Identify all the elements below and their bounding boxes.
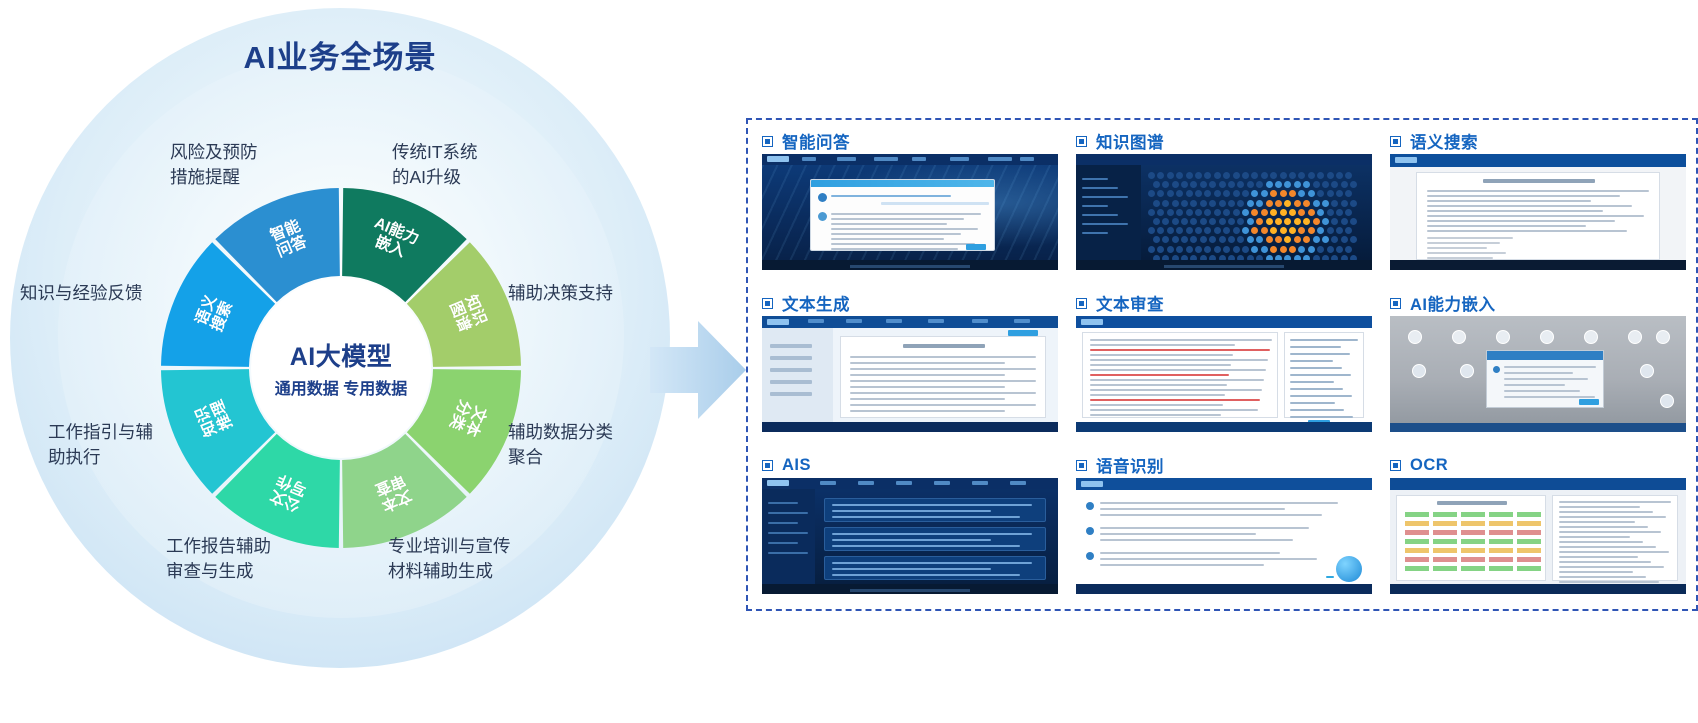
graph-node[interactable] <box>1233 172 1240 179</box>
graph-node[interactable] <box>1280 246 1287 253</box>
form-cell <box>1517 539 1541 544</box>
answer-line <box>831 218 964 220</box>
nav-item[interactable] <box>988 157 1012 161</box>
review-line <box>1090 379 1264 381</box>
graph-node[interactable] <box>1294 181 1301 188</box>
review-issues-panel[interactable] <box>1284 332 1364 418</box>
nav-item[interactable] <box>858 481 874 485</box>
nav-item[interactable] <box>950 157 969 161</box>
nav-item[interactable] <box>886 319 902 323</box>
window-titlebar <box>1487 351 1603 360</box>
sidebar-entry[interactable] <box>768 502 798 504</box>
nav-item[interactable] <box>1010 481 1026 485</box>
issue-item[interactable] <box>1290 346 1341 348</box>
graph-node[interactable] <box>1331 200 1338 207</box>
issue-item[interactable] <box>1290 367 1342 369</box>
issue-item[interactable] <box>1290 402 1335 404</box>
graph-node[interactable] <box>1327 190 1334 197</box>
nav-item[interactable] <box>837 157 856 161</box>
graph-node[interactable] <box>1266 236 1273 243</box>
graph-node[interactable] <box>1153 200 1160 207</box>
bullet-square-icon <box>1076 298 1087 309</box>
issue-item[interactable] <box>1290 416 1353 418</box>
graph-node[interactable] <box>1313 236 1320 243</box>
sidebar-entry[interactable] <box>1082 196 1128 198</box>
bullet-square-icon <box>762 298 773 309</box>
sidebar-entry[interactable] <box>770 368 812 372</box>
app-screenshot[interactable] <box>762 154 1058 270</box>
ais-record[interactable] <box>824 498 1046 522</box>
editor-line <box>850 404 1036 406</box>
graph-node[interactable] <box>1148 246 1155 253</box>
desktop-icon[interactable] <box>1660 394 1674 408</box>
app-topbar <box>1390 478 1686 490</box>
graph-node[interactable] <box>1167 209 1174 216</box>
graph-node[interactable] <box>1327 209 1334 216</box>
form-cell <box>1461 548 1485 553</box>
assistant-line <box>1504 372 1573 374</box>
sidebar-entry[interactable] <box>770 344 812 348</box>
graph-node[interactable] <box>1266 218 1273 225</box>
desktop-icon[interactable] <box>1452 330 1466 344</box>
graph-node[interactable] <box>1153 218 1160 225</box>
app-logo-icon <box>767 156 789 162</box>
issue-item[interactable] <box>1290 395 1352 397</box>
graph-node[interactable] <box>1214 172 1221 179</box>
review-line <box>1090 369 1266 371</box>
voice-label <box>1326 576 1334 578</box>
app-topbar <box>1390 154 1686 167</box>
sidebar-entry[interactable] <box>1082 232 1108 234</box>
graph-node[interactable] <box>1200 181 1207 188</box>
ocr-text-line <box>1559 521 1635 523</box>
answer-line <box>831 238 944 240</box>
sidebar-entry[interactable] <box>1082 223 1128 225</box>
desktop-icon[interactable] <box>1628 330 1642 344</box>
graph-node[interactable] <box>1172 236 1179 243</box>
graph-node[interactable] <box>1162 200 1169 207</box>
record-line <box>832 562 1032 564</box>
graph-node[interactable] <box>1341 218 1348 225</box>
graph-node[interactable] <box>1176 209 1183 216</box>
graph-node[interactable] <box>1200 200 1207 207</box>
diagram-annotation: 辅助数据分类 聚合 <box>508 420 613 471</box>
graph-node[interactable] <box>1186 209 1193 216</box>
form-cell <box>1461 557 1485 562</box>
answer-line <box>831 248 958 250</box>
sidebar-entry[interactable] <box>768 532 808 534</box>
issue-item[interactable] <box>1290 360 1333 362</box>
microphone-icon[interactable] <box>1336 556 1362 582</box>
graph-node[interactable] <box>1327 172 1334 179</box>
app-screenshot[interactable] <box>1076 316 1372 432</box>
graph-node[interactable] <box>1186 172 1193 179</box>
desktop-icon[interactable] <box>1540 330 1554 344</box>
form-cell <box>1461 512 1485 517</box>
form-cell <box>1405 557 1429 562</box>
graph-node[interactable] <box>1266 200 1273 207</box>
form-cell <box>1517 566 1541 571</box>
donut-hub: AI大模型 通用数据 专用数据 <box>251 278 431 458</box>
ocr-result-panel[interactable] <box>1552 495 1678 581</box>
graph-node[interactable] <box>1280 209 1287 216</box>
ocr-text-line <box>1559 561 1651 563</box>
tile-header: 语义搜索 <box>1390 128 1686 154</box>
graph-node[interactable] <box>1242 246 1249 253</box>
editor-panel[interactable] <box>840 336 1046 418</box>
nav-item[interactable] <box>808 319 824 323</box>
app-screenshot[interactable] <box>1076 154 1372 270</box>
graph-node[interactable] <box>1186 227 1193 234</box>
app-logo-icon <box>1081 319 1103 325</box>
nav-item[interactable] <box>874 157 898 161</box>
graph-node[interactable] <box>1233 190 1240 197</box>
graph-node[interactable] <box>1148 172 1155 179</box>
graph-node[interactable] <box>1195 246 1202 253</box>
graph-node[interactable] <box>1181 218 1188 225</box>
hub-subtitle: 通用数据 专用数据 <box>275 380 407 400</box>
graph-node[interactable] <box>1200 218 1207 225</box>
sidebar-entry[interactable] <box>768 542 798 544</box>
issue-item[interactable] <box>1290 381 1334 383</box>
ai-scenario-diagram: AI业务全场景 AI大模型 通用数据 专用数据 AI能力 嵌入知识 图谱文本 分… <box>0 0 700 723</box>
graph-node[interactable] <box>1172 218 1179 225</box>
nav-item[interactable] <box>928 319 944 323</box>
graph-node[interactable] <box>1157 246 1164 253</box>
nav-item[interactable] <box>1014 319 1030 323</box>
desktop-icon[interactable] <box>1584 330 1598 344</box>
form-cell <box>1405 530 1429 535</box>
form-cell <box>1489 512 1513 517</box>
review-line <box>1090 404 1223 406</box>
graph-node[interactable] <box>1345 246 1352 253</box>
graph-node[interactable] <box>1247 200 1254 207</box>
issue-item[interactable] <box>1290 339 1358 341</box>
graph-node[interactable] <box>1327 227 1334 234</box>
graph-node[interactable] <box>1308 227 1315 234</box>
desktop-icon[interactable] <box>1640 364 1654 378</box>
review-line <box>1090 374 1229 376</box>
editor-line <box>850 356 1036 358</box>
transcript-line <box>1100 533 1256 535</box>
showcase-tile[interactable]: 文本生成 <box>762 290 1058 432</box>
assistant-line <box>1504 384 1565 386</box>
sidebar-entry[interactable] <box>1082 178 1108 180</box>
graph-node[interactable] <box>1242 209 1249 216</box>
graph-node[interactable] <box>1242 172 1249 179</box>
form-cell <box>1433 521 1457 526</box>
graph-node[interactable] <box>1167 172 1174 179</box>
sidebar-entry[interactable] <box>770 356 812 360</box>
speaker-avatar <box>1086 552 1094 560</box>
answer-line <box>831 213 981 215</box>
nav-item[interactable] <box>972 481 988 485</box>
graph-node[interactable] <box>1322 200 1329 207</box>
record-line <box>832 539 991 541</box>
chat-dialog[interactable] <box>810 179 995 251</box>
graph-node[interactable] <box>1270 246 1277 253</box>
form-cell <box>1405 512 1429 517</box>
transcript-line <box>1100 539 1293 541</box>
graph-node[interactable] <box>1308 246 1315 253</box>
graph-node[interactable] <box>1313 218 1320 225</box>
sidebar-entry[interactable] <box>770 392 812 396</box>
graph-node[interactable] <box>1341 181 1348 188</box>
graph-node[interactable] <box>1148 209 1155 216</box>
graph-node[interactable] <box>1336 246 1343 253</box>
form-cell <box>1433 539 1457 544</box>
graph-node[interactable] <box>1275 200 1282 207</box>
scanned-form[interactable] <box>1396 495 1546 581</box>
review-document[interactable] <box>1082 332 1278 418</box>
graph-node[interactable] <box>1266 181 1273 188</box>
desktop-icon[interactable] <box>1496 330 1510 344</box>
sidebar-entry[interactable] <box>1082 214 1118 216</box>
graph-node[interactable] <box>1275 218 1282 225</box>
app-logo-icon <box>1395 157 1417 163</box>
showcase-tile[interactable]: AIS <box>762 452 1058 594</box>
graph-node[interactable] <box>1186 190 1193 197</box>
graph-node[interactable] <box>1214 227 1221 234</box>
app-screenshot[interactable] <box>762 478 1058 594</box>
bullet-square-icon <box>1390 460 1401 471</box>
graph-node[interactable] <box>1298 246 1305 253</box>
diagram-annotation: 辅助决策支持 <box>508 281 613 306</box>
nav-item[interactable] <box>846 319 862 323</box>
graph-node[interactable] <box>1172 181 1179 188</box>
review-line <box>1090 414 1221 416</box>
review-line <box>1090 354 1233 356</box>
app-logo-icon <box>767 480 789 486</box>
graph-node[interactable] <box>1289 172 1296 179</box>
user-avatar <box>818 193 827 202</box>
graph-node[interactable] <box>1317 209 1324 216</box>
tile-title: AI能力嵌入 <box>1410 291 1496 315</box>
review-line <box>1090 344 1235 346</box>
showcase-tile[interactable]: 智能问答 <box>762 128 1058 270</box>
form-cell <box>1433 557 1457 562</box>
sidebar-entry[interactable] <box>1082 205 1108 207</box>
graph-node[interactable] <box>1167 246 1174 253</box>
graph-node[interactable] <box>1336 209 1343 216</box>
graph-node[interactable] <box>1341 200 1348 207</box>
graph-node[interactable] <box>1261 246 1268 253</box>
app-screenshot[interactable] <box>1390 316 1686 432</box>
graph-node[interactable] <box>1186 246 1193 253</box>
graph-node[interactable] <box>1190 200 1197 207</box>
graph-node[interactable] <box>1294 218 1301 225</box>
graph-node[interactable] <box>1181 200 1188 207</box>
editor-line <box>850 386 1005 388</box>
app-screenshot[interactable] <box>1076 478 1372 594</box>
graph-node[interactable] <box>1214 209 1221 216</box>
graph-node[interactable] <box>1247 218 1254 225</box>
issue-item[interactable] <box>1290 374 1351 376</box>
ocr-text-line <box>1559 536 1630 538</box>
ocr-text-line <box>1559 551 1669 553</box>
form-cell <box>1433 548 1457 553</box>
send-button[interactable] <box>966 244 986 250</box>
graph-node[interactable] <box>1313 181 1320 188</box>
tile-title: 语音识别 <box>1096 453 1164 477</box>
sidebar-entry[interactable] <box>768 512 808 514</box>
sidebar-entry[interactable] <box>768 522 798 524</box>
sidebar-entry[interactable] <box>770 380 812 384</box>
app-screenshot[interactable] <box>1390 478 1686 594</box>
graph-node[interactable] <box>1280 227 1287 234</box>
review-line <box>1090 409 1258 411</box>
graph-node[interactable] <box>1219 181 1226 188</box>
graph-node[interactable] <box>1350 200 1357 207</box>
graph-node[interactable] <box>1294 200 1301 207</box>
graph-node[interactable] <box>1228 200 1235 207</box>
ocr-text-line <box>1559 566 1664 568</box>
graph-node[interactable] <box>1219 200 1226 207</box>
graph-node[interactable] <box>1219 218 1226 225</box>
nav-item[interactable] <box>972 319 988 323</box>
footer-text <box>850 265 970 268</box>
dialog-titlebar <box>811 180 994 187</box>
nav-item[interactable] <box>820 481 836 485</box>
graph-node[interactable] <box>1280 172 1287 179</box>
graph-node[interactable] <box>1209 200 1216 207</box>
graph-node[interactable] <box>1284 200 1291 207</box>
form-cell <box>1489 557 1513 562</box>
showcase-tile[interactable]: OCR <box>1390 452 1686 594</box>
nav-item[interactable] <box>896 481 912 485</box>
graph-node[interactable] <box>1251 246 1258 253</box>
app-screenshot[interactable] <box>1390 154 1686 270</box>
tile-title: 智能问答 <box>782 129 850 153</box>
app-footer <box>1390 584 1686 594</box>
graph-node[interactable] <box>1313 200 1320 207</box>
review-line <box>1090 384 1227 386</box>
review-line <box>1090 349 1270 351</box>
graph-node[interactable] <box>1261 209 1268 216</box>
graph-node[interactable] <box>1233 227 1240 234</box>
editor-line <box>850 362 1005 364</box>
graph-node[interactable] <box>1303 200 1310 207</box>
graph-node[interactable] <box>1289 209 1296 216</box>
graph-node[interactable] <box>1317 246 1324 253</box>
graph-node[interactable] <box>1336 172 1343 179</box>
graph-node[interactable] <box>1214 246 1221 253</box>
bullet-square-icon <box>1076 136 1087 147</box>
desktop-icon[interactable] <box>1412 364 1426 378</box>
issue-item[interactable] <box>1290 409 1344 411</box>
graph-node[interactable] <box>1195 172 1202 179</box>
transcript-line <box>1100 508 1285 510</box>
graph-node[interactable] <box>1223 209 1230 216</box>
ai-assistant-window[interactable] <box>1486 350 1604 408</box>
showcase-tile[interactable]: 语义搜索 <box>1390 128 1686 270</box>
issue-item[interactable] <box>1290 388 1343 390</box>
bullet-square-icon <box>1390 298 1401 309</box>
graph-node[interactable] <box>1261 227 1268 234</box>
desktop-icon[interactable] <box>1408 330 1422 344</box>
nav-item[interactable] <box>802 157 816 161</box>
app-screenshot[interactable] <box>762 316 1058 432</box>
editor-line <box>850 392 1036 394</box>
tile-title: 知识图谱 <box>1096 129 1164 153</box>
generate-button[interactable] <box>1008 330 1038 336</box>
graph-node[interactable] <box>1228 218 1235 225</box>
form-cell <box>1405 548 1429 553</box>
graph-node[interactable] <box>1237 200 1244 207</box>
graph-node[interactable] <box>1223 246 1230 253</box>
ais-record[interactable] <box>824 556 1046 580</box>
graph-node[interactable] <box>1256 200 1263 207</box>
ais-record[interactable] <box>824 527 1046 551</box>
graph-node[interactable] <box>1219 236 1226 243</box>
document-page[interactable] <box>1416 172 1660 260</box>
desktop-icon[interactable] <box>1656 330 1670 344</box>
form-cell <box>1517 530 1541 535</box>
graph-node[interactable] <box>1308 172 1315 179</box>
sidebar-entry[interactable] <box>768 552 808 554</box>
graph-node[interactable] <box>1247 181 1254 188</box>
ocr-text-line <box>1559 516 1666 518</box>
ocr-text-line <box>1559 531 1661 533</box>
form-cell <box>1489 566 1513 571</box>
nav-item[interactable] <box>1020 157 1034 161</box>
desktop-icon[interactable] <box>1460 364 1474 378</box>
graph-node[interactable] <box>1308 209 1315 216</box>
showcase-tile[interactable]: AI能力嵌入 <box>1390 290 1686 432</box>
page-title: AI业务全场景 <box>0 32 680 77</box>
tile-header: 知识图谱 <box>1076 128 1372 154</box>
graph-node[interactable] <box>1233 246 1240 253</box>
tile-header: 文本生成 <box>762 290 1058 316</box>
graph-node[interactable] <box>1204 246 1211 253</box>
tile-title: OCR <box>1410 456 1448 475</box>
showcase-tile[interactable]: 文本审查 <box>1076 290 1372 432</box>
editor-line <box>850 380 1036 382</box>
graph-node[interactable] <box>1195 209 1202 216</box>
review-line <box>1090 389 1262 391</box>
graph-node[interactable] <box>1233 209 1240 216</box>
graph-node[interactable] <box>1176 246 1183 253</box>
showcase-tile[interactable]: 知识图谱 <box>1076 128 1372 270</box>
nav-item[interactable] <box>912 157 926 161</box>
graph-node[interactable] <box>1172 200 1179 207</box>
graph-node[interactable] <box>1261 172 1268 179</box>
form-cell <box>1489 530 1513 535</box>
graph-node[interactable] <box>1322 218 1329 225</box>
editor-line <box>850 374 1005 376</box>
document-line <box>1427 200 1591 202</box>
hub-title: AI大模型 <box>290 337 393 373</box>
tile-title: AIS <box>782 456 811 475</box>
document-line <box>1427 195 1620 197</box>
form-cell <box>1461 530 1485 535</box>
nav-item[interactable] <box>934 481 950 485</box>
graph-node[interactable] <box>1167 227 1174 234</box>
bullet-square-icon <box>1390 136 1401 147</box>
issue-item[interactable] <box>1290 353 1350 355</box>
form-sidebar <box>762 328 833 422</box>
assistant-send-button[interactable] <box>1579 399 1599 405</box>
graph-node[interactable] <box>1153 181 1160 188</box>
graph-node[interactable] <box>1280 190 1287 197</box>
form-title <box>1437 501 1507 505</box>
showcase-tile[interactable]: 语音识别 <box>1076 452 1372 594</box>
graph-node[interactable] <box>1327 246 1334 253</box>
graph-node[interactable] <box>1270 209 1277 216</box>
sidebar-entry[interactable] <box>1082 187 1118 189</box>
review-line <box>1090 364 1231 366</box>
graph-node[interactable] <box>1289 246 1296 253</box>
